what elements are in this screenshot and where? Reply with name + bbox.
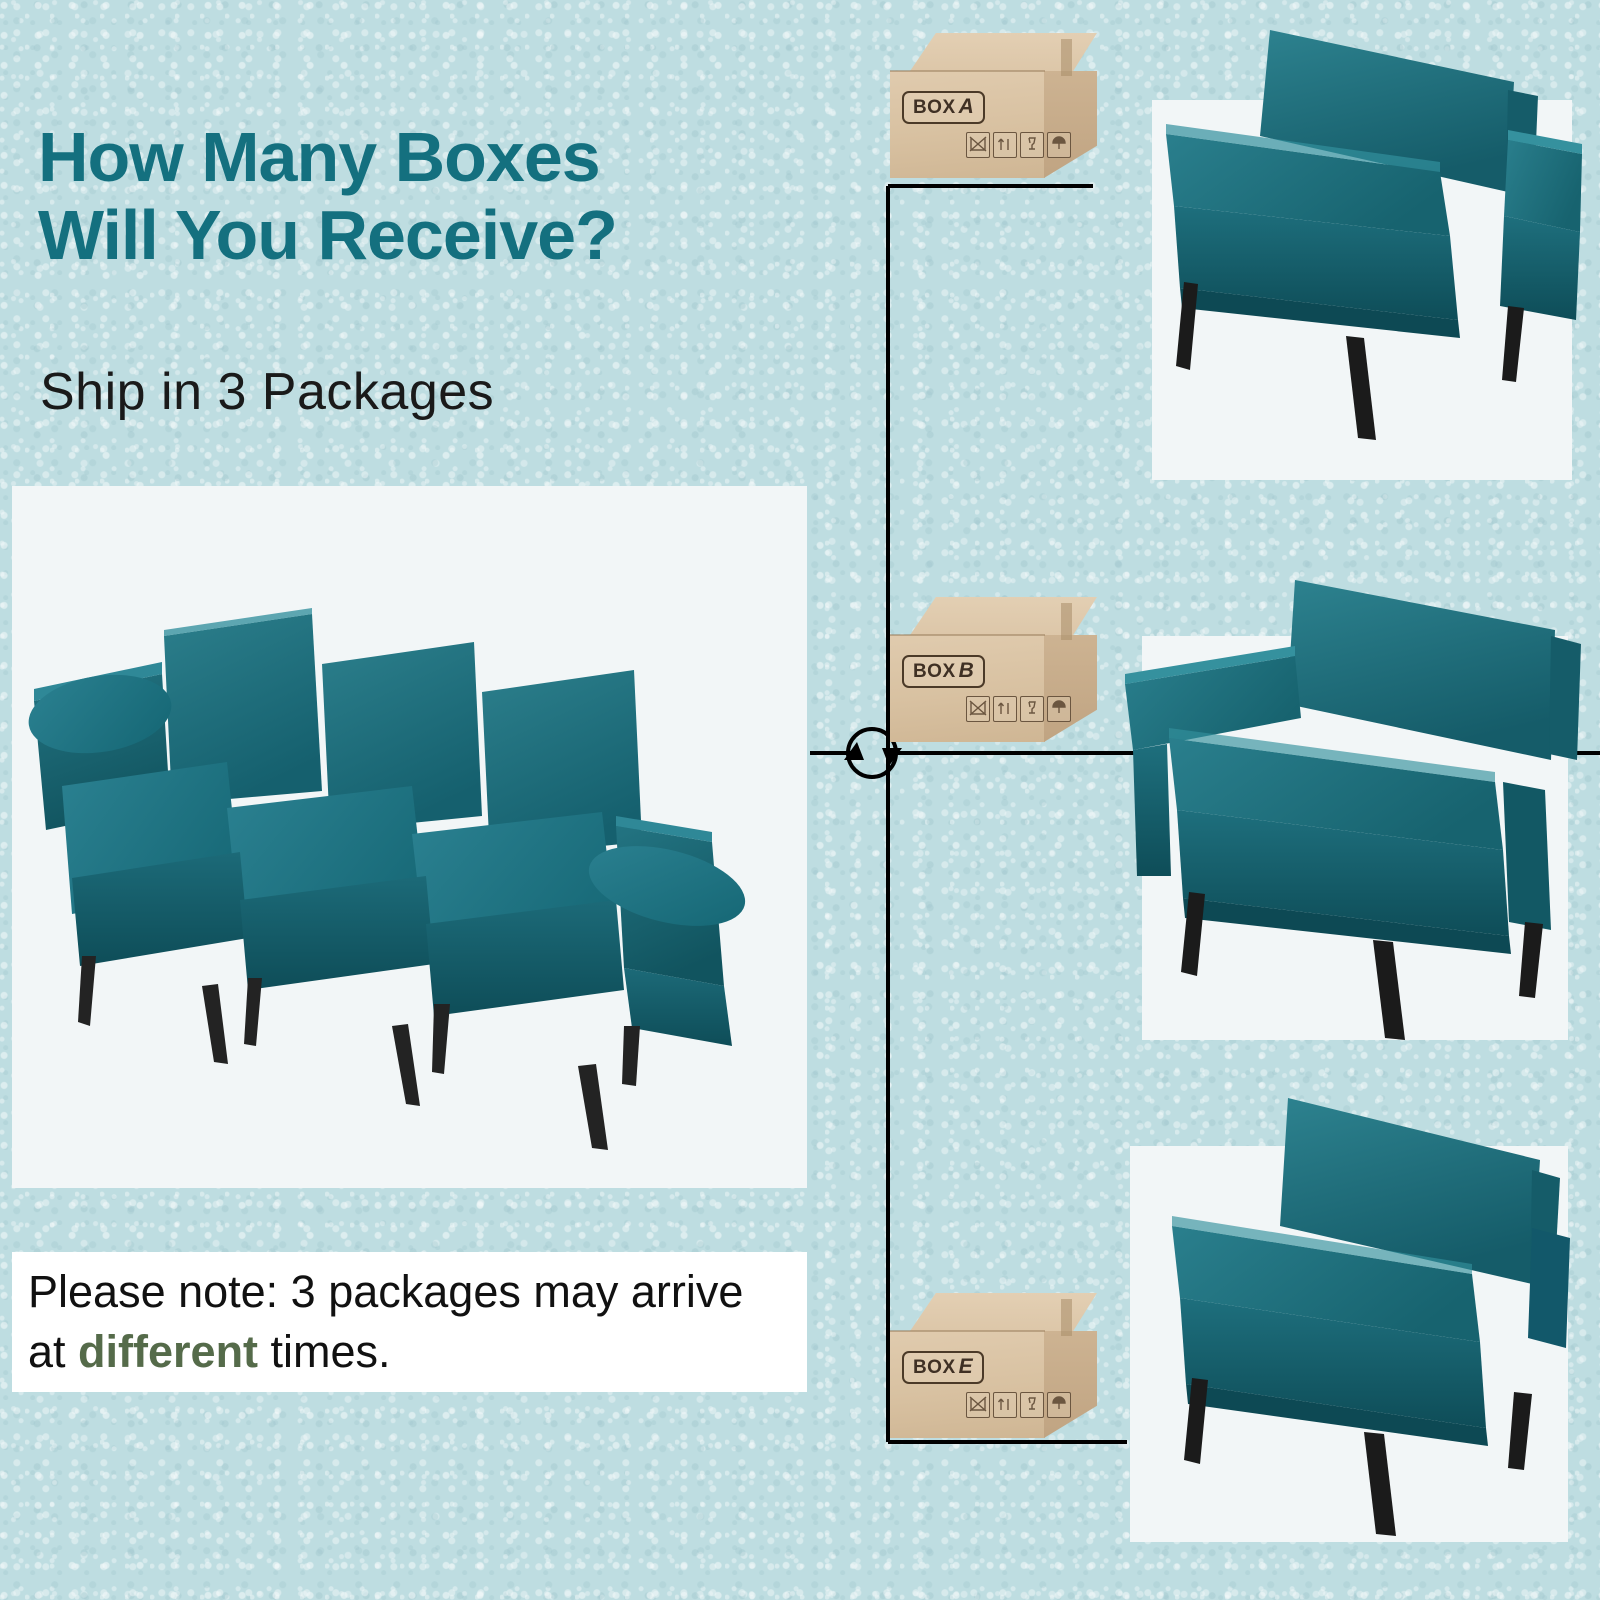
keep-dry-icon xyxy=(1047,696,1071,722)
page-title: How Many Boxes Will You Receive? xyxy=(38,118,798,275)
box-label-letter: A xyxy=(956,95,975,118)
fragile-glass-icon xyxy=(1020,132,1044,158)
box-seam xyxy=(890,1330,1045,1332)
infographic-canvas: How Many Boxes Will You Receive? Ship in… xyxy=(0,0,1600,1600)
box-tape xyxy=(1061,1299,1072,1337)
fragile-glass-icon xyxy=(1020,1392,1044,1418)
this-side-up-icon xyxy=(993,1392,1017,1418)
box-tape xyxy=(1061,39,1072,77)
no-hooks-icon xyxy=(966,132,990,158)
module-left-arm-image xyxy=(1105,570,1600,1040)
box-label-prefix: BOX xyxy=(913,1357,956,1378)
no-hooks-icon xyxy=(966,1392,990,1418)
box-front-face xyxy=(890,1331,1045,1438)
no-hooks-icon xyxy=(966,696,990,722)
box-front-face xyxy=(890,71,1045,178)
note-highlight: different xyxy=(78,1326,258,1377)
package-box-b: BOXB xyxy=(885,597,1097,742)
main-sofa-image xyxy=(12,486,807,1188)
keep-dry-icon xyxy=(1047,1392,1071,1418)
note-suffix: times. xyxy=(258,1326,391,1377)
page-subtitle: Ship in 3 Packages xyxy=(40,362,494,422)
box-e-handling-symbols xyxy=(966,1392,1071,1418)
box-front-face xyxy=(890,635,1045,742)
circular-arrows-icon xyxy=(844,742,864,760)
this-side-up-icon xyxy=(993,696,1017,722)
box-seam xyxy=(890,70,1045,72)
box-seam xyxy=(890,634,1045,636)
box-a-handling-symbols xyxy=(966,132,1071,158)
keep-dry-icon xyxy=(1047,132,1071,158)
box-side-face xyxy=(1044,1331,1097,1438)
box-side-face xyxy=(1044,71,1097,178)
module-armless-image xyxy=(1120,1088,1600,1558)
package-box-a: BOXA xyxy=(885,33,1097,178)
box-label-prefix: BOX xyxy=(913,661,956,682)
box-b-handling-symbols xyxy=(966,696,1071,722)
box-b-label: BOXB xyxy=(902,655,985,688)
shipping-note-text: Please note: 3 packages may arrive at di… xyxy=(28,1262,788,1382)
box-label-prefix: BOX xyxy=(913,97,956,118)
box-label-letter: B xyxy=(956,659,975,682)
box-a-label: BOXA xyxy=(902,91,985,124)
fragile-glass-icon xyxy=(1020,696,1044,722)
box-label-letter: E xyxy=(956,1355,974,1378)
box-e-label: BOXE xyxy=(902,1351,984,1384)
this-side-up-icon xyxy=(993,132,1017,158)
box-tape xyxy=(1061,603,1072,641)
circular-arrows-icon-2 xyxy=(882,748,902,766)
module-right-arm-image xyxy=(1110,20,1600,490)
box-side-face xyxy=(1044,635,1097,742)
package-box-e: BOXE xyxy=(885,1293,1097,1438)
